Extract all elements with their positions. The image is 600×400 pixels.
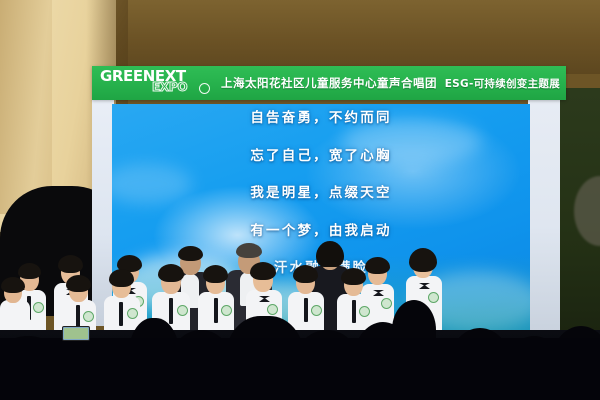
- greenext-logo: GREENEXT EXPO: [100, 69, 218, 99]
- audience-foreground-band: [0, 338, 600, 400]
- screenshot-root: 自告奋勇，不约而同 忘了自己，宽了心胸 我是明星，点缀天空 有一个梦，由我启动 …: [0, 0, 600, 400]
- logo-sub-text: EXPO: [152, 81, 187, 93]
- phone-screen: [64, 328, 88, 339]
- lyric-line-3: 我是明星，点缀天空: [112, 187, 530, 201]
- screen-right-white-border: [528, 96, 562, 332]
- audience-phone: [62, 326, 90, 341]
- event-banner: 上海太阳花社区儿童服务中心童声合唱团 GREENEXT EXPO ESG-可持续…: [92, 66, 566, 100]
- left-beige-column-inner: [0, 0, 52, 214]
- lyric-line-1: 自告奋勇，不约而同: [112, 112, 530, 126]
- banner-theme-tag: ESG-可持续创变主题展: [445, 66, 560, 100]
- screen-left-white-border: [92, 96, 114, 326]
- lyric-line-2: 忘了自己，宽了心胸: [112, 150, 530, 164]
- lyric-line-4: 有一个梦，由我启动: [112, 225, 530, 239]
- circle-o-mark-icon: [199, 83, 210, 94]
